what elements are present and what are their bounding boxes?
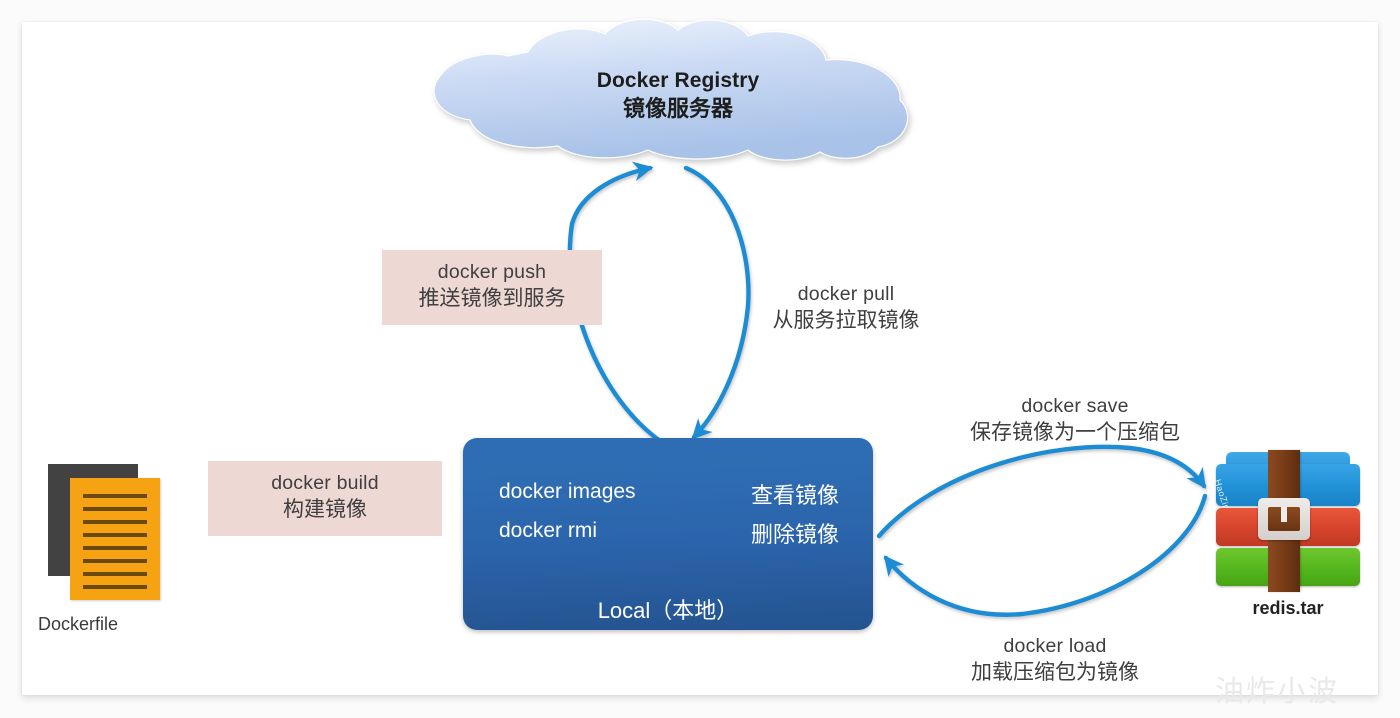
dockerfile-text-line (83, 585, 147, 589)
archive-buckle-inner (1268, 507, 1300, 531)
label-docker-build-command: docker build (224, 471, 426, 496)
dockerfile-text-line (83, 572, 147, 576)
dockerfile-label: Dockerfile (14, 614, 228, 635)
arrow-docker-save (879, 447, 1204, 536)
command-docker-images: docker images (499, 480, 636, 504)
archive-buckle-slot (1281, 507, 1287, 522)
archive-file-icon: HaoZip (1216, 452, 1360, 588)
label-docker-build-meaning: 构建镜像 (224, 496, 426, 523)
dockerfile-icon (48, 464, 160, 600)
local-command-row: docker images 查看镜像 (499, 480, 839, 506)
docker-registry-label: Docker Registry 镜像服务器 (428, 68, 928, 123)
registry-subtitle: 镜像服务器 (428, 95, 928, 123)
dockerfile-text-line (83, 520, 147, 524)
archive-brand-text: HaoZip (1212, 478, 1231, 512)
dockerfile-front-page (70, 478, 160, 600)
label-docker-load-meaning: 加载压缩包为镜像 (955, 659, 1155, 686)
dockerfile-text-line (83, 546, 147, 550)
label-docker-push-meaning: 推送镜像到服务 (398, 285, 586, 312)
dockerfile-text-line (83, 533, 147, 537)
dockerfile-text-line (83, 559, 147, 563)
archive-file-label: redis.tar (1193, 598, 1383, 619)
local-box-caption: Local（本地） (463, 593, 873, 625)
label-docker-save-meaning: 保存镜像为一个压缩包 (955, 419, 1195, 446)
arrow-docker-load (886, 496, 1205, 615)
command-docker-rmi: docker rmi (499, 519, 597, 543)
dockerfile-text-line (83, 507, 147, 511)
label-docker-build: docker build 构建镜像 (208, 461, 442, 536)
label-docker-pull-meaning: 从服务拉取镜像 (760, 307, 932, 334)
label-docker-save: docker save 保存镜像为一个压缩包 (955, 394, 1195, 447)
archive-buckle (1258, 498, 1310, 540)
label-docker-push-command: docker push (398, 260, 586, 285)
docker-registry-node: Docker Registry 镜像服务器 (428, 32, 928, 164)
label-docker-save-command: docker save (955, 394, 1195, 419)
local-command-row: docker rmi 删除镜像 (499, 519, 839, 545)
label-docker-pull: docker pull 从服务拉取镜像 (760, 282, 932, 335)
meaning-docker-rmi: 删除镜像 (751, 517, 839, 549)
arrow-docker-pull (686, 168, 748, 437)
label-docker-load: docker load 加载压缩包为镜像 (955, 634, 1155, 687)
label-docker-pull-command: docker pull (760, 282, 932, 307)
dockerfile-text-line (83, 494, 147, 498)
local-docker-host-box: docker images 查看镜像 docker rmi 删除镜像 Local… (463, 438, 873, 630)
label-docker-load-command: docker load (955, 634, 1155, 659)
meaning-docker-images: 查看镜像 (751, 478, 839, 510)
label-docker-push: docker push 推送镜像到服务 (382, 250, 602, 325)
registry-title: Docker Registry (428, 68, 928, 95)
watermark: 油炸小波 (1215, 668, 1339, 710)
